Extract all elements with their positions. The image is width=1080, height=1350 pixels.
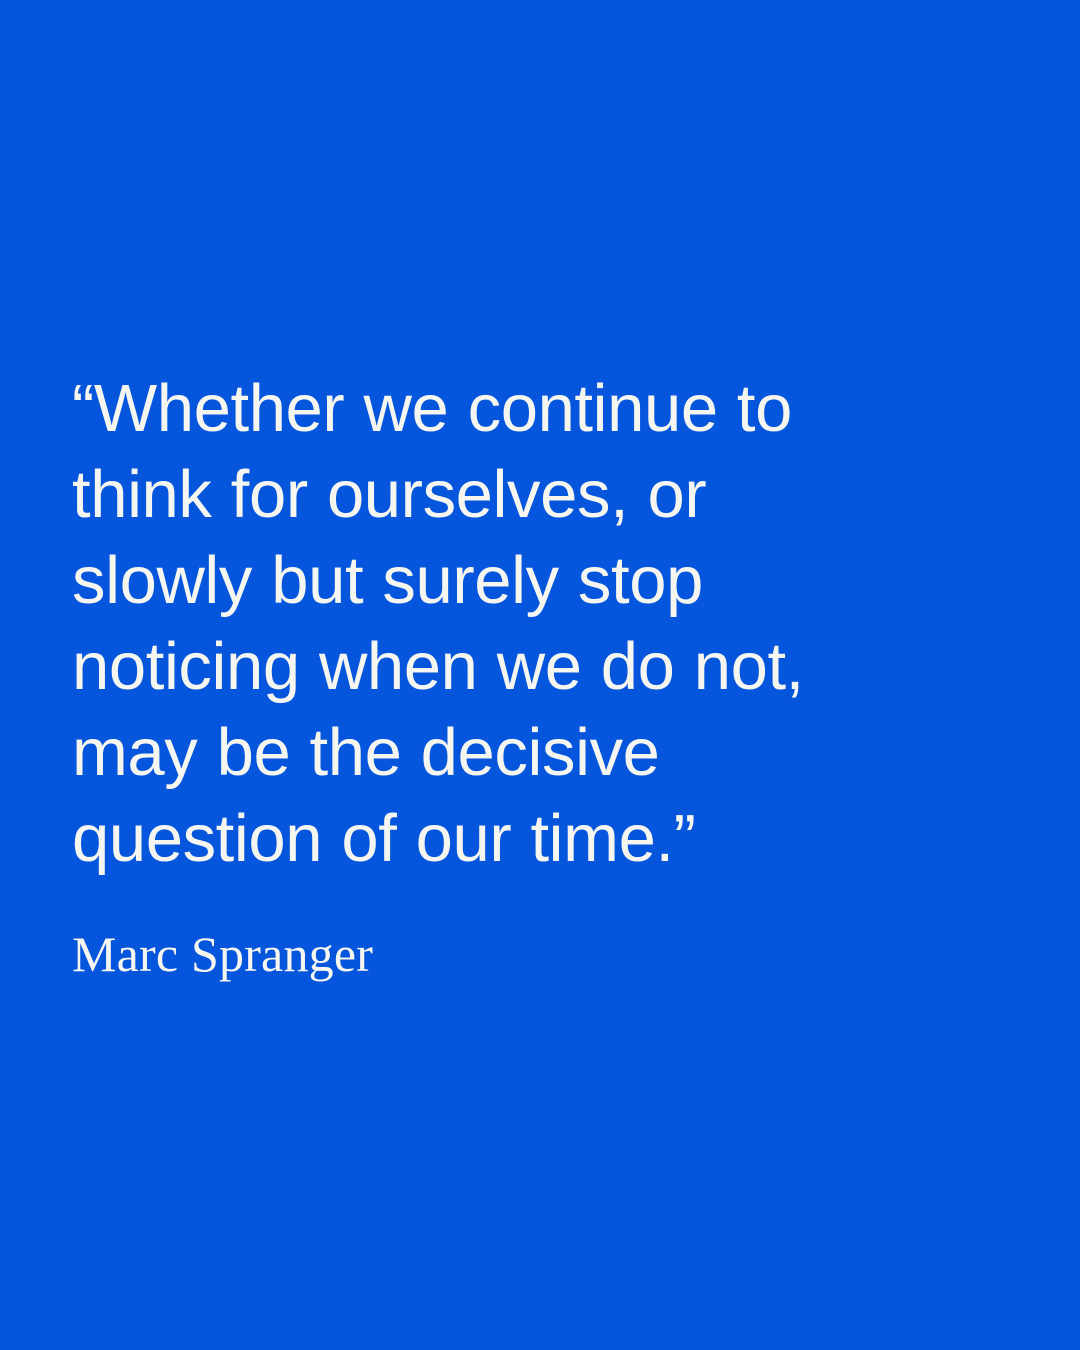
quote-attribution: Marc Spranger <box>72 882 1002 984</box>
quote-card: “Whether we continue to think for oursel… <box>0 0 1080 1350</box>
quote-text: “Whether we continue to think for oursel… <box>72 366 1002 882</box>
quote-content-block: “Whether we continue to think for oursel… <box>72 366 1002 984</box>
